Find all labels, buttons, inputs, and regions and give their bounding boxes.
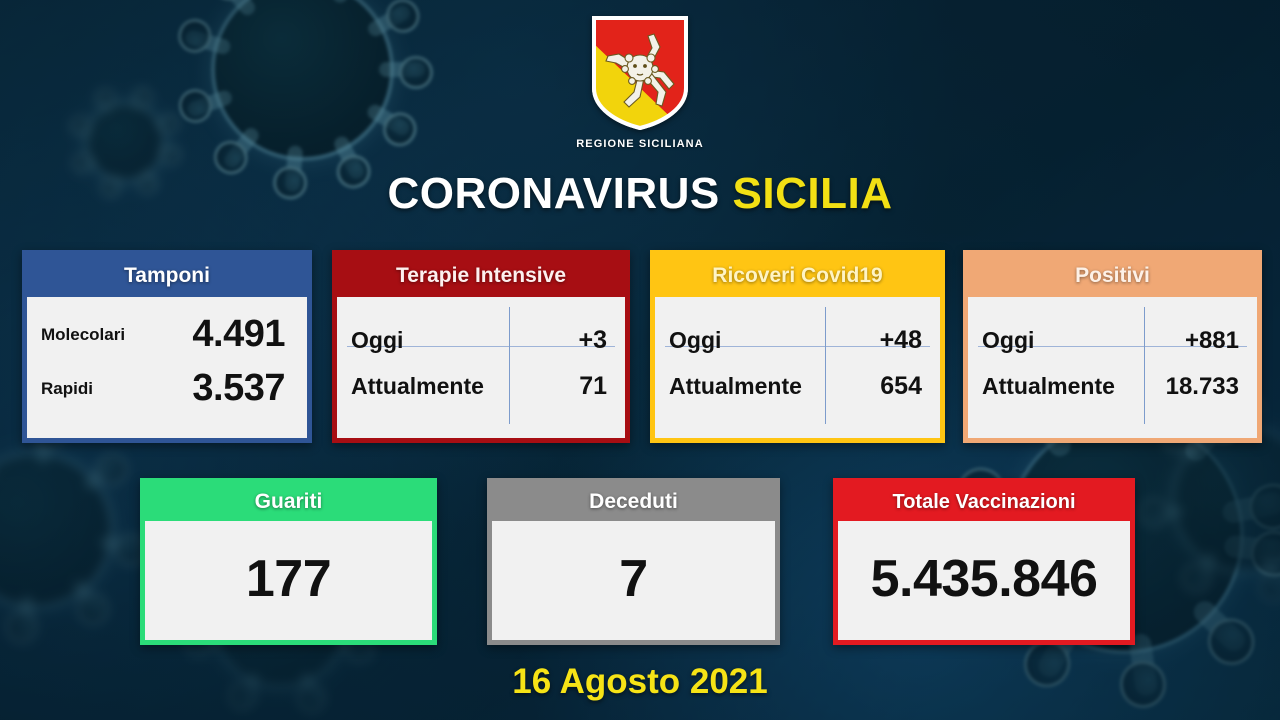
stat-row: Molecolari 4.491	[41, 308, 289, 362]
stat-value: 3.537	[192, 367, 289, 410]
stat-label: Attualmente	[669, 373, 802, 400]
stat-card-deceduti[interactable]: Deceduti 7	[487, 478, 780, 645]
report-date: 16 Agosto 2021	[0, 662, 1280, 702]
card-title: Guariti	[145, 483, 432, 521]
stat-row: Oggi +881	[982, 318, 1243, 364]
stat-row: Attualmente 654	[669, 364, 926, 410]
stat-value: 4.491	[192, 313, 289, 356]
virus-particle-icon	[0, 455, 110, 605]
regione-siciliana-logo: REGIONE SICILIANA	[0, 14, 1280, 150]
stat-row: Attualmente 18.733	[982, 364, 1243, 410]
stat-value: 71	[579, 372, 611, 401]
card-title: Tamponi	[27, 255, 307, 297]
stat-card-totale-vaccinazioni[interactable]: Totale Vaccinazioni 5.435.846	[833, 478, 1135, 645]
card-title: Ricoveri Covid19	[655, 255, 940, 297]
card-body: 177	[145, 521, 432, 640]
stat-row: Oggi +3	[351, 318, 611, 364]
logo-label: REGIONE SICILIANA	[576, 138, 704, 150]
stat-label: Attualmente	[982, 373, 1115, 400]
page-title: CORONAVIRUS SICILIA	[0, 168, 1280, 220]
page-title-main: CORONAVIRUS	[388, 169, 720, 218]
stat-card-guariti[interactable]: Guariti 177	[140, 478, 437, 645]
stat-label: Oggi	[351, 327, 403, 354]
stat-label: Oggi	[669, 327, 721, 354]
stat-value: 177	[246, 553, 331, 609]
card-body: 7	[492, 521, 775, 640]
card-title: Positivi	[968, 255, 1257, 297]
stat-value: +3	[578, 326, 611, 355]
card-title: Totale Vaccinazioni	[838, 483, 1130, 521]
stat-card-ricoveri-covid19[interactable]: Ricoveri Covid19 Oggi +48 Attualmente 65…	[650, 250, 945, 443]
page-title-accent: SICILIA	[733, 169, 893, 218]
virus-particle-icon	[1175, 430, 1280, 570]
card-body: Oggi +3 Attualmente 71	[337, 297, 625, 438]
card-body: Molecolari 4.491 Rapidi 3.537	[27, 297, 307, 438]
card-title: Terapie Intensive	[337, 255, 625, 297]
stat-value: +881	[1185, 327, 1243, 355]
stat-row: Oggi +48	[669, 318, 926, 364]
stat-value: +48	[880, 326, 926, 355]
stat-label: Attualmente	[351, 373, 484, 400]
card-title: Deceduti	[492, 483, 775, 521]
card-body: Oggi +881 Attualmente 18.733	[968, 297, 1257, 438]
stat-label: Rapidi	[41, 379, 93, 399]
stat-row: Rapidi 3.537	[41, 362, 289, 416]
stat-value: 18.733	[1166, 373, 1243, 401]
stat-label: Oggi	[982, 327, 1034, 354]
stat-card-terapie-intensive[interactable]: Terapie Intensive Oggi +3 Attualmente 71	[332, 250, 630, 443]
stat-value: 654	[880, 372, 926, 401]
stat-value: 7	[619, 553, 647, 609]
sicily-trinacria-crest-icon	[588, 14, 692, 132]
stat-label: Molecolari	[41, 325, 125, 345]
stat-card-tamponi[interactable]: Tamponi Molecolari 4.491 Rapidi 3.537	[22, 250, 312, 443]
card-body: 5.435.846	[838, 521, 1130, 640]
stat-row: Attualmente 71	[351, 364, 611, 410]
card-body: Oggi +48 Attualmente 654	[655, 297, 940, 438]
stat-card-positivi[interactable]: Positivi Oggi +881 Attualmente 18.733	[963, 250, 1262, 443]
stat-value: 5.435.846	[871, 553, 1098, 609]
